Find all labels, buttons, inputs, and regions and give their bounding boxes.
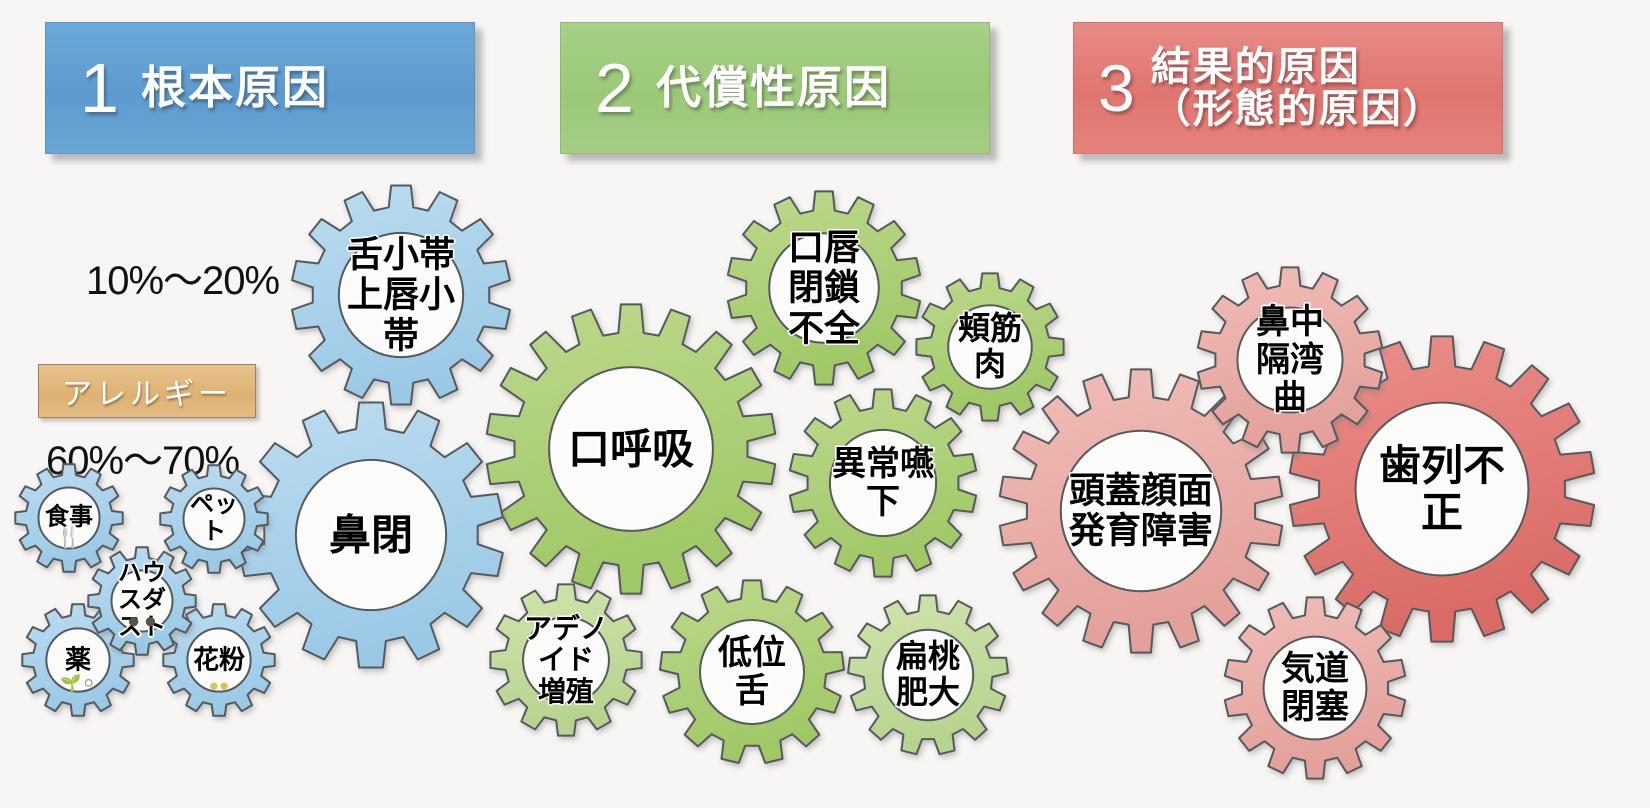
- gear-teiizetsu: 低位舌: [652, 572, 852, 772]
- header-title-1: 根本原因: [141, 64, 329, 111]
- header-banner-2: 2 代償性原因: [560, 22, 990, 154]
- poster-canvas: 1 根本原因 2 代償性原因 3 結果的原因 （形態的原因） 10%〜20% ア…: [0, 0, 1650, 808]
- gear-shape-koushin: [719, 183, 929, 393]
- allergy-tag-label: アレルギー: [62, 369, 232, 413]
- gear-shape-zesshoutai: [283, 177, 519, 413]
- gear-shape-hentou: [840, 587, 1016, 763]
- gear-zesshoutai: 舌小帯 上唇小帯: [283, 177, 519, 413]
- gear-shape-kidouheisoku: [1216, 589, 1414, 787]
- gear-kyoukinniku: 頬筋肉: [908, 265, 1072, 429]
- header-title-3: 結果的原因 （形態的原因）: [1151, 46, 1445, 130]
- header-number-3: 3: [1098, 55, 1135, 121]
- gear-shape-teiizetsu: [652, 572, 852, 772]
- gear-koushin: 口唇閉鎖不全: [719, 183, 929, 393]
- header-banner-1: 1 根本原因: [45, 22, 475, 154]
- header-number-1: 1: [80, 53, 119, 123]
- gear-shape-kyoukinniku: [908, 265, 1072, 429]
- allergy-tag: アレルギー: [38, 364, 256, 418]
- gear-kidouheisoku: 気道閉塞: [1216, 589, 1414, 787]
- gear-hentou: 扁桃肥大: [840, 587, 1016, 763]
- header-banner-3: 3 結果的原因 （形態的原因）: [1073, 22, 1503, 154]
- gear-shape-housedust: [80, 539, 204, 663]
- gear-housedust: ハウスダスト: [80, 539, 204, 663]
- gear-shape-bichuukaku: [1189, 259, 1391, 461]
- header-number-2: 2: [595, 53, 634, 123]
- percent-label-top: 10%〜20%: [86, 248, 279, 306]
- gear-bichuukaku: 鼻中隔湾曲: [1189, 259, 1391, 461]
- header-title-2: 代償性原因: [656, 64, 891, 111]
